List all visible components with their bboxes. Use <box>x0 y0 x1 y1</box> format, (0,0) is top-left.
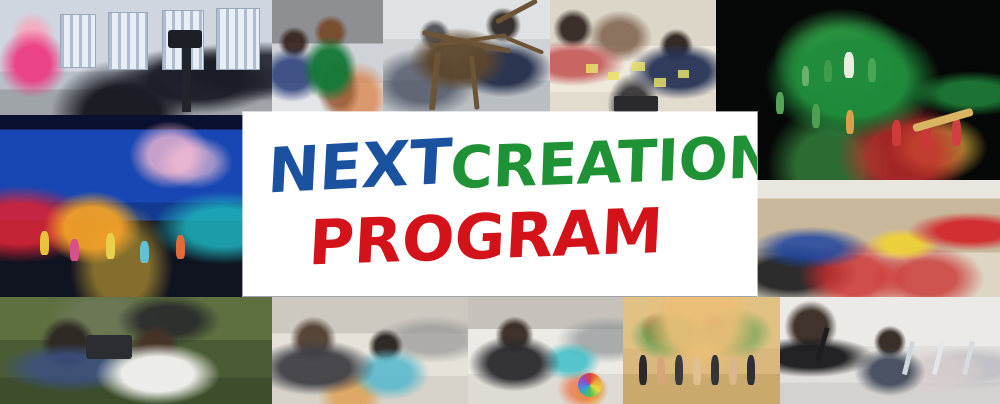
collage-photo-gym-performance <box>623 297 780 404</box>
collage-photo-outdoor-performance <box>757 180 1000 297</box>
title-word-program: PROGRAM <box>307 194 665 279</box>
photo-outdoor-performance-image <box>757 180 1000 297</box>
collage-photo-craft-workshop-2 <box>468 297 623 404</box>
collage-photo-filming <box>0 0 272 115</box>
photo-craft-workshop-1-image <box>272 297 468 404</box>
photo-blue-stage-image <box>0 115 243 297</box>
collage-photo-green-workshop <box>272 0 383 115</box>
collage-photo-blue-stage <box>0 115 243 297</box>
collage-photo-table-workshop <box>550 0 716 115</box>
photo-green-tree-stage-image <box>716 0 1000 180</box>
title-card: NEXT CREATION PROGRAM <box>243 112 757 296</box>
collage-photo-craft-workshop-1 <box>272 297 468 404</box>
next-creation-program-banner: NEXT CREATION PROGRAM <box>0 0 1000 404</box>
collage-photo-green-tree-stage <box>716 0 1000 180</box>
collage-photo-music-class <box>780 297 1000 404</box>
photo-green-workshop-image <box>272 0 383 115</box>
title-word-next: NEXT <box>266 125 454 208</box>
photo-branch-sculpture-image <box>383 0 550 115</box>
collage-photo-video-workshop <box>0 297 272 404</box>
collage-photo-branch-sculpture <box>383 0 550 115</box>
photo-video-workshop-image <box>0 297 272 404</box>
title-word-creation: CREATION <box>449 123 757 202</box>
title-artwork: NEXT CREATION PROGRAM <box>243 112 757 296</box>
photo-gym-performance-image <box>623 297 780 404</box>
